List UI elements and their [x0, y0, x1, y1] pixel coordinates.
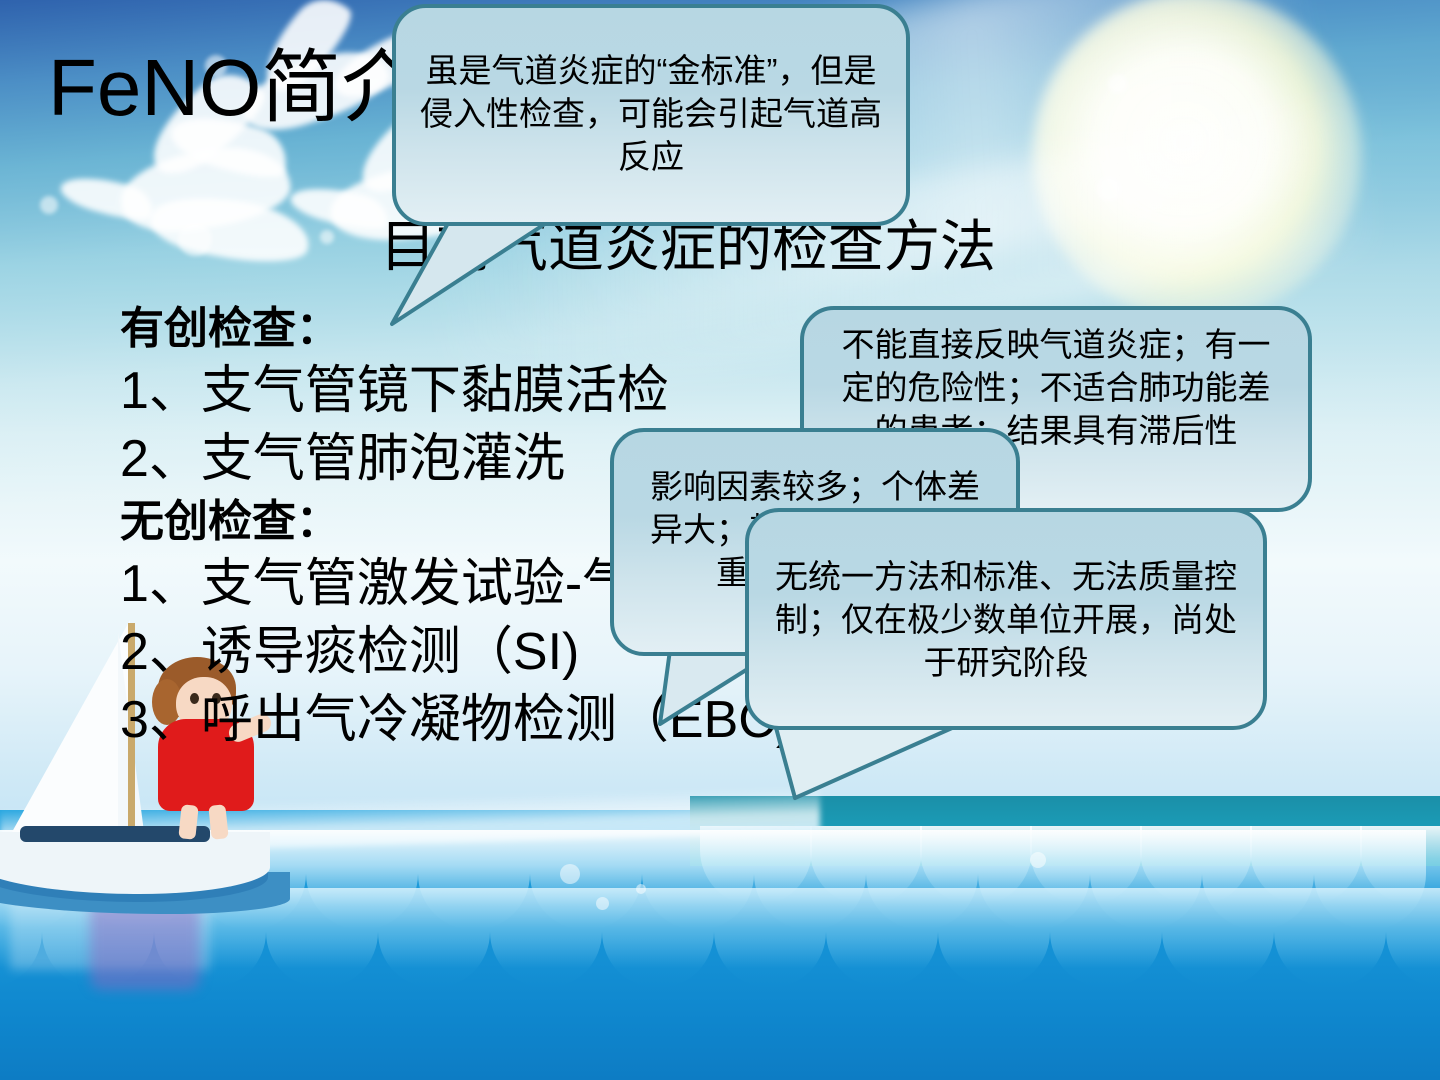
callout-text: 虽是气道炎症的“金标准”，但是侵入性检查，可能会引起气道高反应	[392, 4, 910, 226]
callout-invasive-biopsy[interactable]: 虽是气道炎症的“金标准”，但是侵入性检查，可能会引起气道高反应	[392, 4, 910, 226]
page-title: FeNO简介	[48, 46, 421, 130]
slide-canvas: FeNO简介 目前气道炎症的检查方法 有创检查： 1、支气管镜下黏膜活检 2、支…	[0, 0, 1440, 1080]
sail	[12, 620, 130, 832]
callout-text: 无统一方法和标准、无法质量控制；仅在极少数单位开展，尚处于研究阶段	[745, 508, 1267, 730]
callout-ebc-limits[interactable]: 无统一方法和标准、无法质量控制；仅在极少数单位开展，尚处于研究阶段	[745, 508, 1267, 730]
